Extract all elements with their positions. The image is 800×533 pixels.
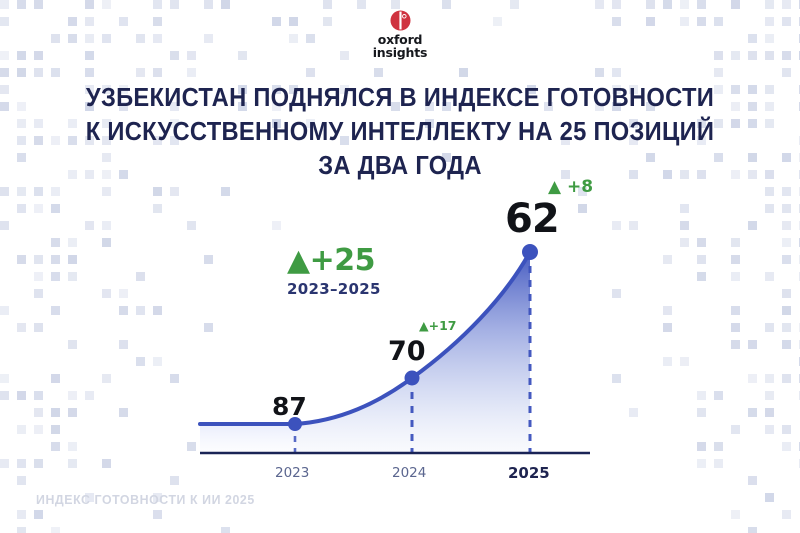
data-point-2025[interactable] xyxy=(522,244,538,260)
data-label-2025: 62 xyxy=(505,196,559,242)
x-tick-2023: 2023 xyxy=(275,465,309,481)
x-tick-2025: 2025 xyxy=(508,464,550,482)
title-line-2: К ИСКУССТВЕННОМУ ИНТЕЛЛЕКТУ НА 25 ПОЗИЦИ… xyxy=(28,116,772,150)
brand-name-line-2: insights xyxy=(373,47,428,60)
footer-watermark: ИНДЕКС ГОТОВНОСТИ К ИИ 2025 xyxy=(36,492,255,507)
delta-badge-2025: ▲ +8 xyxy=(548,177,593,197)
data-label-2024: 70 xyxy=(388,336,426,367)
area-fill-flat xyxy=(200,424,295,452)
oxford-insights-logo-icon xyxy=(390,10,411,31)
brand-logo: oxford insights xyxy=(0,10,800,60)
title-line-1: УЗБЕКИСТАН ПОДНЯЛСЯ В ИНДЕКСЕ ГОТОВНОСТИ xyxy=(28,82,772,116)
data-label-2023: 87 xyxy=(272,392,307,421)
page-title: УЗБЕКИСТАН ПОДНЯЛСЯ В ИНДЕКСЕ ГОТОВНОСТИ… xyxy=(0,82,800,184)
total-delta-badge: ▲+25 xyxy=(287,243,375,278)
title-line-3: ЗА ДВА ГОДА xyxy=(28,150,772,184)
total-delta-range: 2023–2025 xyxy=(287,280,381,298)
data-point-2024[interactable] xyxy=(405,371,420,386)
infographic-canvas: oxford insights УЗБЕКИСТАН ПОДНЯЛСЯ В ИН… xyxy=(0,0,800,533)
x-tick-2024: 2024 xyxy=(392,465,426,481)
brand-wordmark: oxford insights xyxy=(373,34,428,60)
line-chart xyxy=(0,0,800,533)
delta-badge-2024: ▲+17 xyxy=(419,318,456,333)
